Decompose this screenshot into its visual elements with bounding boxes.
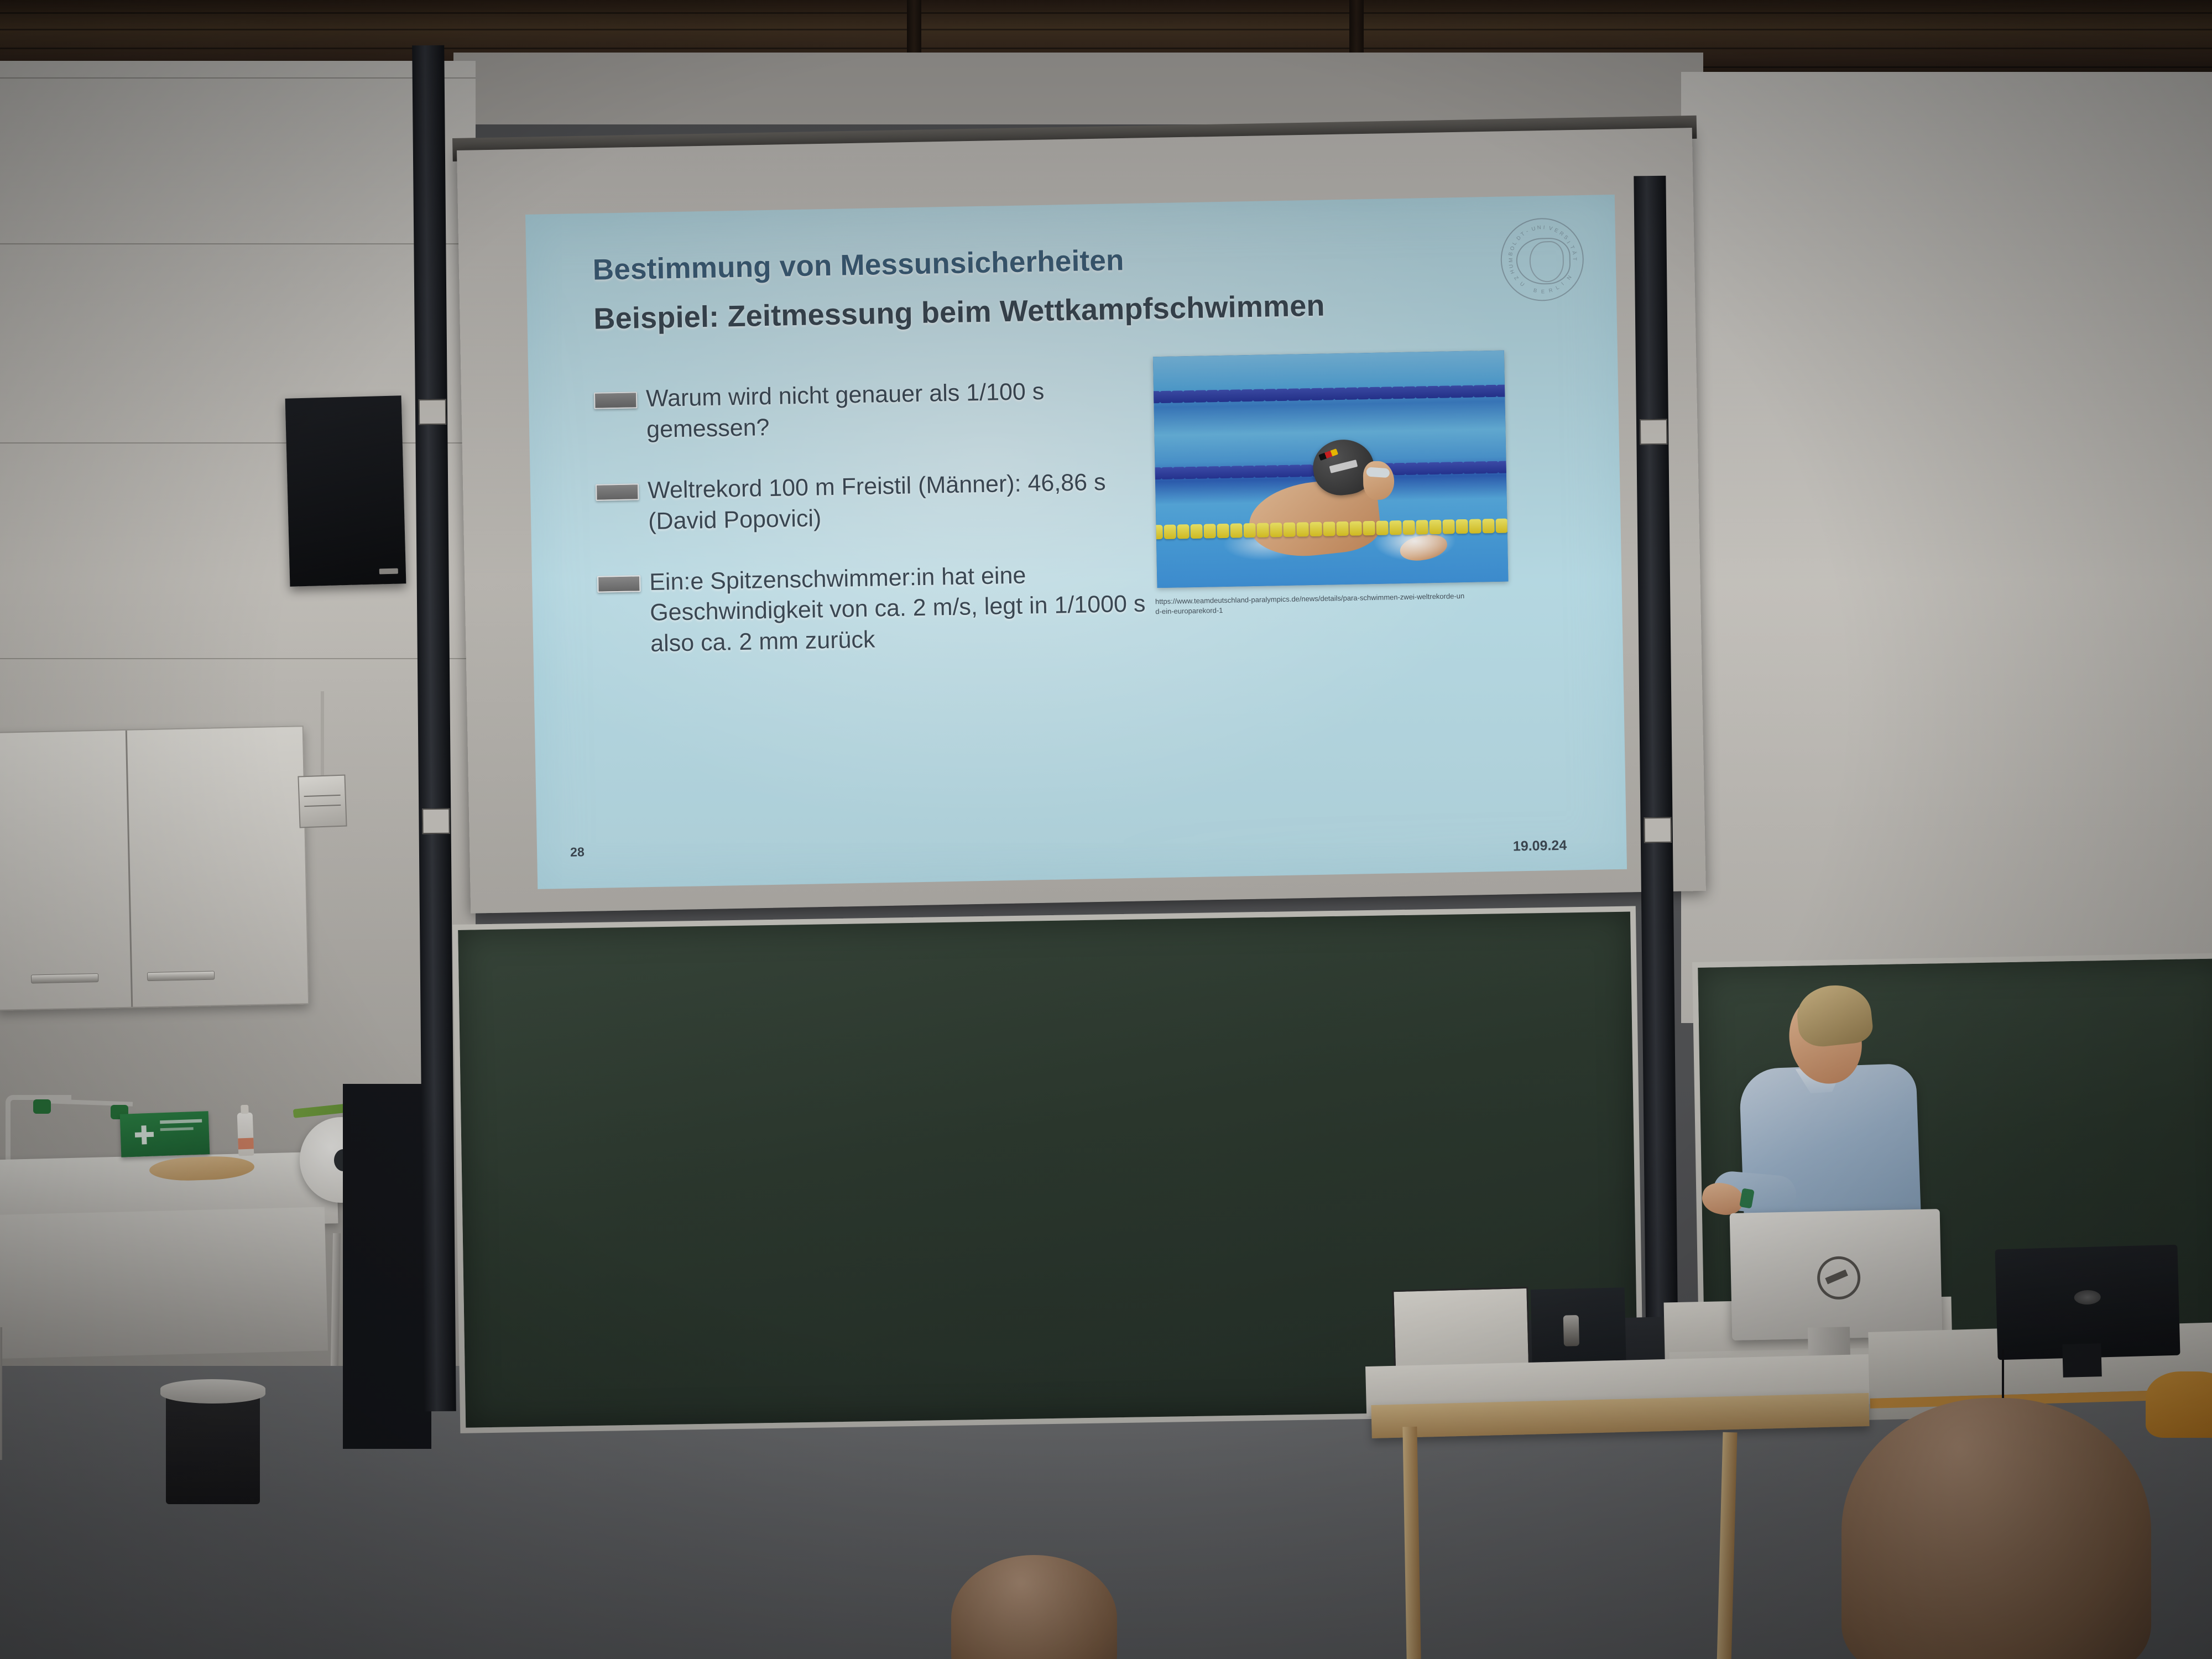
bullet-text: Weltrekord 100 m Freistil (Männer): 46,8… [648, 469, 1106, 535]
dell-logo-icon [1817, 1256, 1861, 1300]
wall-speaker [285, 395, 406, 586]
logo-lettering: HUMBOLDT-UNIVERSITÄTZU BERLIN [1500, 217, 1584, 302]
student-head-front-right [1841, 1398, 2151, 1659]
dell-monitor[interactable] [1730, 1209, 1943, 1340]
speaker-badge [379, 568, 398, 575]
rail-bracket [422, 808, 450, 834]
cabinet-handle[interactable] [147, 971, 215, 982]
photo-credit-url: https://www.teamdeutschland-paralympics.… [1155, 591, 1465, 617]
german-flag-icon [1318, 448, 1338, 461]
slide-photo-swimmer [1153, 351, 1509, 588]
box-knob[interactable] [1563, 1315, 1579, 1347]
slide-page-number: 28 [570, 844, 585, 859]
upper-wall [453, 53, 1703, 124]
faucet-valve[interactable] [33, 1099, 51, 1114]
slide-subtitle: Beispiel: Zeitmessung beim Wettkampfschw… [593, 289, 1325, 336]
bin-liner [160, 1379, 265, 1404]
swim-cap-logo [1329, 460, 1358, 473]
monitor-logo-icon [2074, 1290, 2101, 1305]
second-monitor[interactable] [1995, 1245, 2180, 1360]
spray-bottle[interactable] [237, 1113, 254, 1156]
first-aid-kit[interactable] [120, 1111, 210, 1157]
wall-conduit [321, 691, 324, 780]
lecture-hall-photo: Bestimmung von Messunsicherheiten Beispi… [0, 0, 2212, 1659]
wall-cabinet[interactable] [0, 726, 309, 1011]
bullet-marker-icon [594, 392, 638, 409]
rail-bracket [1640, 419, 1667, 445]
slide-bullet-list: Warum wird nicht genauer als 1/100 s gem… [591, 374, 1160, 691]
bullet-marker-icon [596, 483, 639, 500]
bullet-marker-icon [597, 575, 641, 592]
right-wall [1681, 72, 2212, 1023]
rail-bracket [1644, 817, 1671, 843]
dark-wall-panel [343, 1084, 431, 1449]
bullet-text: Ein:e Spitzenschwimmer:in hat eine Gesch… [649, 562, 1146, 657]
bench-leg [0, 1327, 2, 1460]
rail-bracket [419, 399, 446, 425]
list-item: Warum wird nicht genauer als 1/100 s gem… [591, 374, 1156, 446]
projection-screen: Bestimmung von Messunsicherheiten Beispi… [525, 195, 1627, 889]
slide-title: Bestimmung von Messunsicherheiten [592, 243, 1124, 287]
list-item: Weltrekord 100 m Freistil (Männer): 46,8… [592, 466, 1157, 538]
cabinet-door-split [126, 731, 133, 1007]
bullet-text: Warum wird nicht genauer als 1/100 s gem… [646, 378, 1045, 443]
lab-bench-front [0, 1207, 328, 1359]
list-item: Ein:e Spitzenschwimmer:in hat eine Gesch… [594, 558, 1160, 661]
slide-date: 19.09.24 [1513, 838, 1567, 855]
wall-switch-box[interactable] [298, 775, 347, 828]
waste-bin[interactable] [166, 1394, 260, 1504]
cabinet-handle[interactable] [31, 973, 98, 984]
student-shoulder-right [2146, 1371, 2212, 1438]
swim-goggles [1366, 467, 1390, 478]
humboldt-university-logo: HUMBOLDT-UNIVERSITÄTZU BERLIN [1500, 217, 1584, 302]
